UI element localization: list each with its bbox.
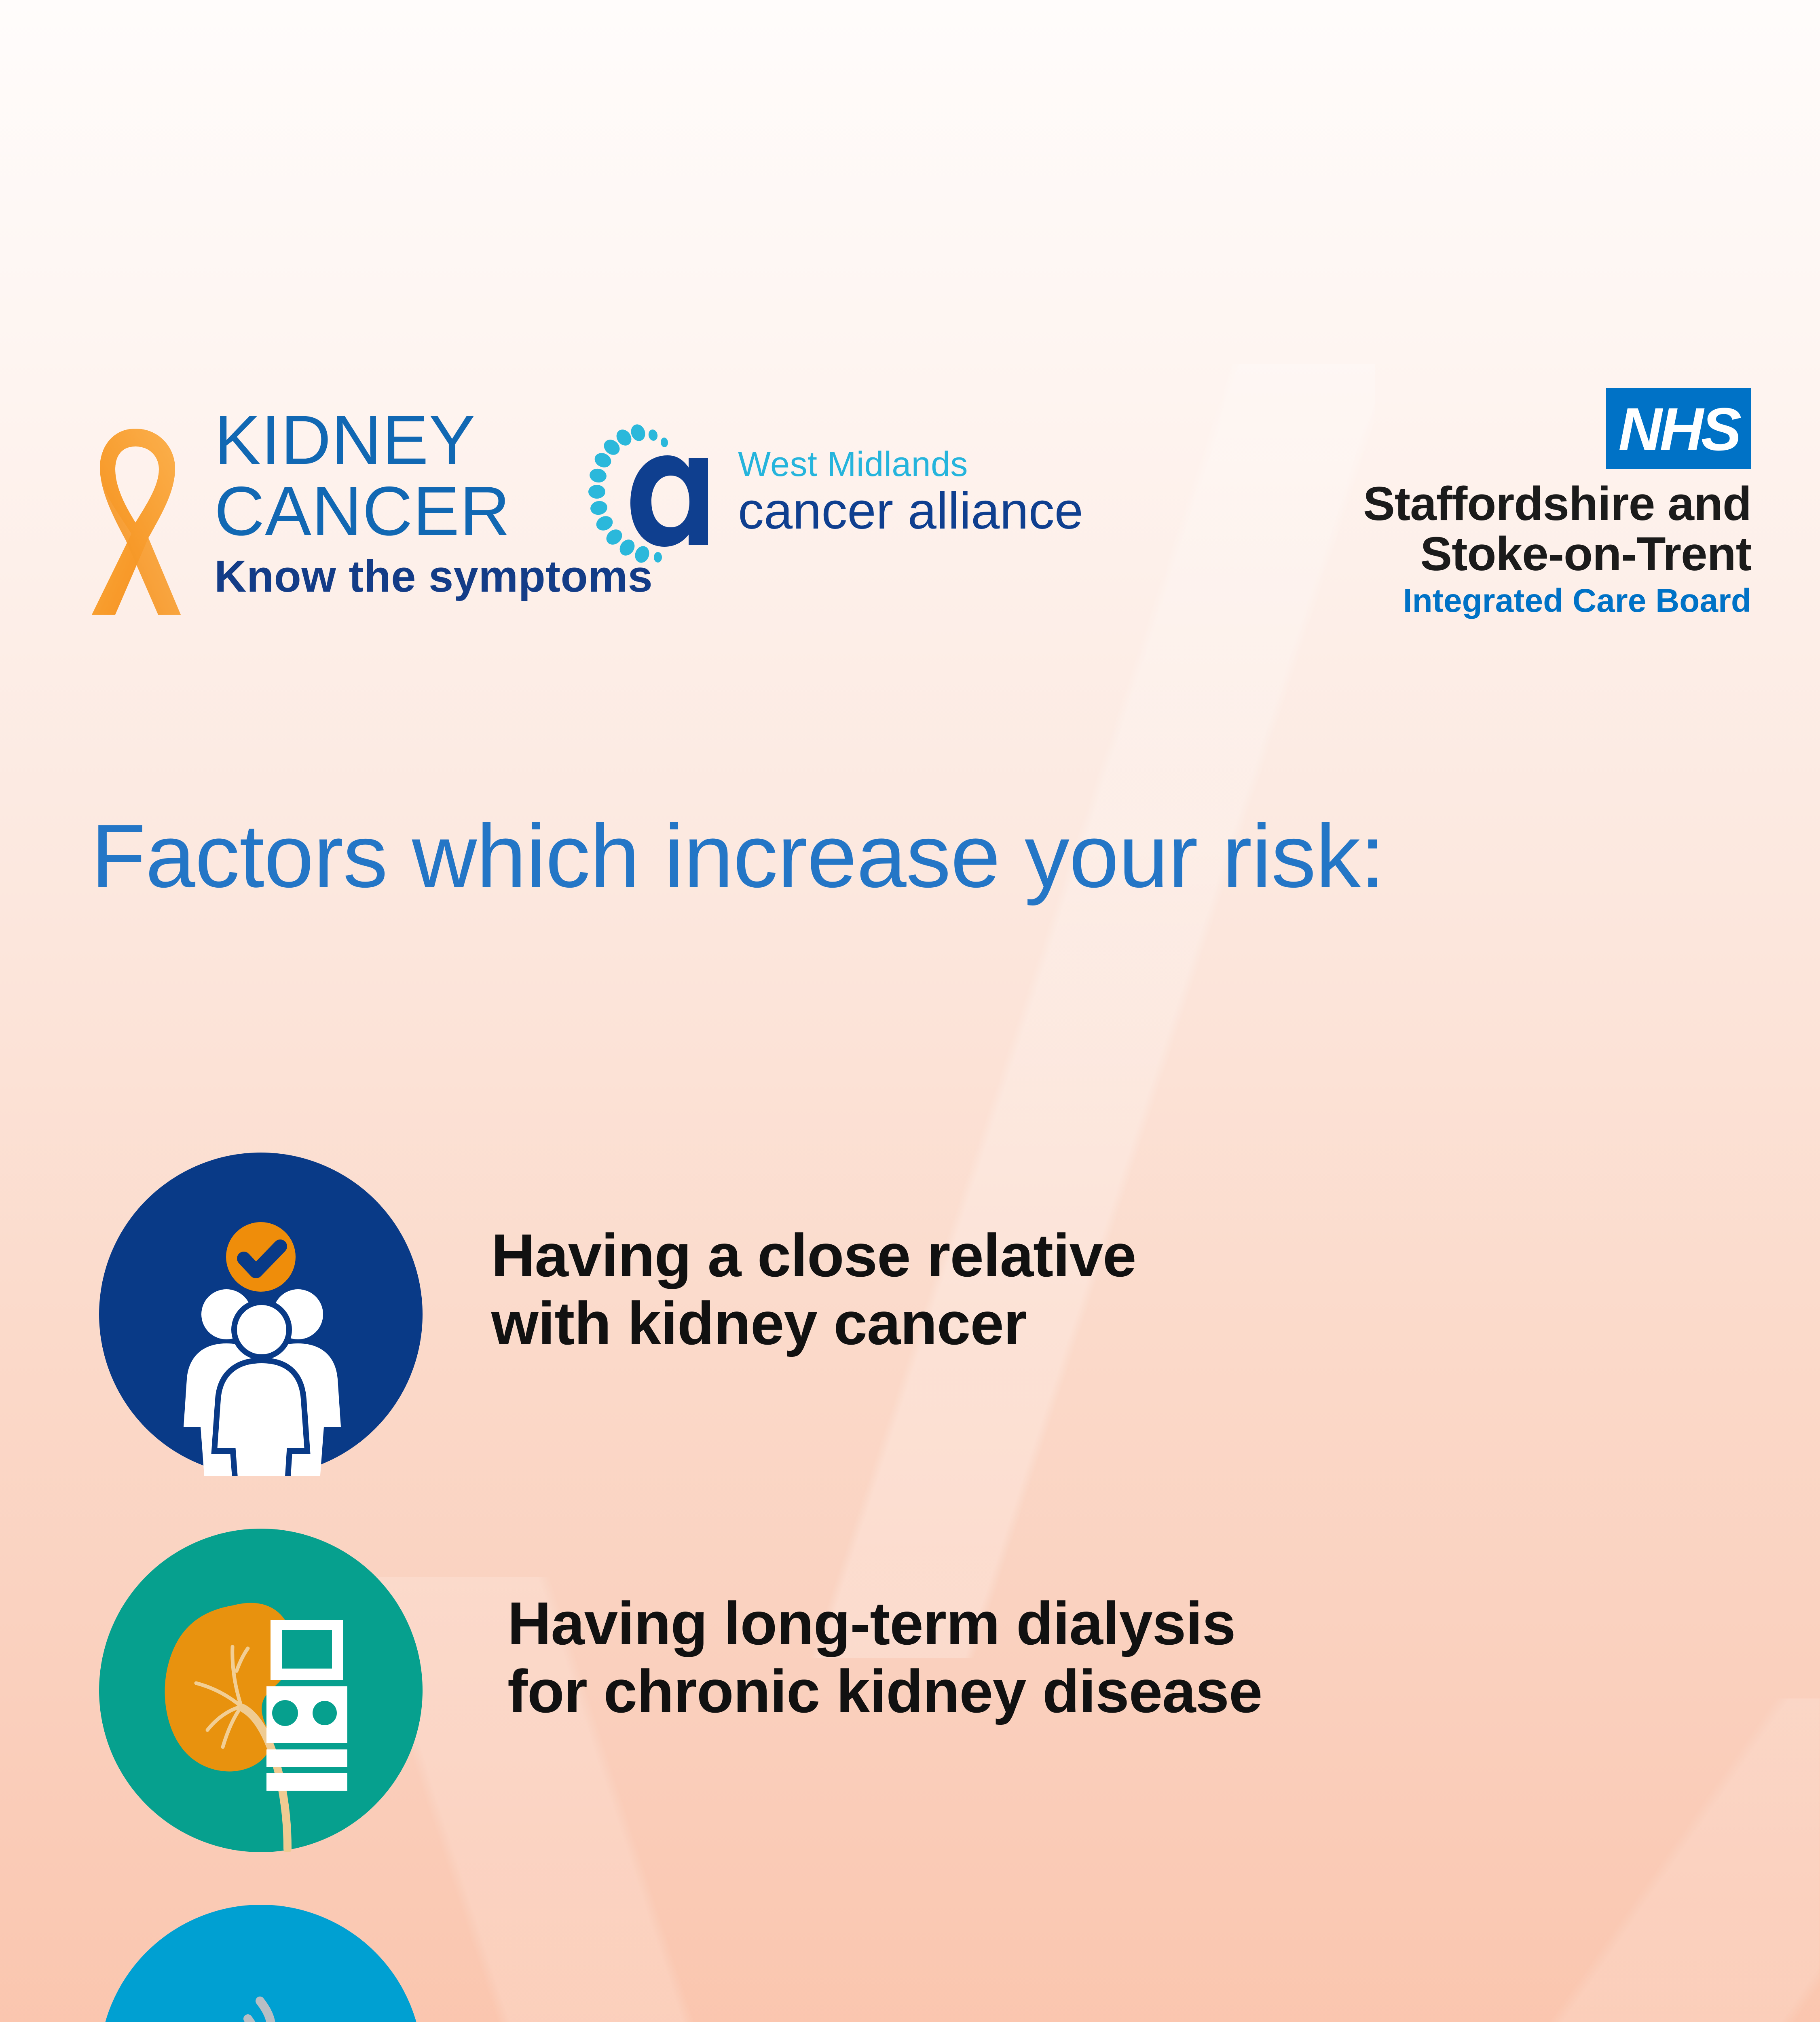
risk-icon-family-group	[99, 1153, 423, 1476]
family-group-check-icon	[99, 1153, 423, 1476]
nhs-org-line3: Integrated Care Board	[1286, 582, 1751, 620]
logo-header: KIDNEY CANCER Know the symptoms	[0, 388, 1820, 696]
nhs-org-line2: Stoke-on-Trent	[1286, 529, 1751, 579]
risk-icon-smoking	[99, 1905, 423, 2022]
awareness-ribbon-icon	[75, 404, 196, 631]
west-midlands-line1: West Midlands	[738, 446, 1083, 483]
west-midlands-cancer-alliance-logo: West Midlands cancer alliance	[588, 421, 1163, 594]
cancer-alliance-line2: cancer alliance	[738, 484, 1083, 538]
kidney-cancer-line1: KIDNEY	[214, 404, 653, 476]
cancer-alliance-a-icon	[588, 421, 730, 566]
page-title: Factors which increase your risk:	[91, 807, 1466, 905]
risk-factor-row: Smoking	[0, 1905, 1820, 2022]
kidney-cancer-line2: CANCER	[214, 476, 653, 547]
kidney-cancer-logo: KIDNEY CANCER Know the symptoms	[75, 404, 584, 631]
poster-canvas: KIDNEY CANCER Know the symptoms	[0, 0, 1820, 2022]
risk-factor-label: Having a close relative with kidney canc…	[491, 1221, 1136, 1357]
kidney-cancer-wordmark: KIDNEY CANCER Know the symptoms	[214, 404, 653, 601]
kidney-dialysis-machine-icon	[99, 1529, 423, 1852]
west-midlands-wordmark: West Midlands cancer alliance	[738, 446, 1083, 538]
nhs-logo: NHS Staffordshire and Stoke-on-Trent Int…	[1286, 388, 1751, 647]
cigarette-smoke-icon	[99, 1905, 423, 2022]
nhs-badge: NHS	[1606, 388, 1751, 469]
nhs-org-line1: Staffordshire and	[1286, 479, 1751, 529]
risk-icon-dialysis	[99, 1529, 423, 1852]
risk-factor-row: Having a close relative with kidney canc…	[0, 1153, 1820, 1476]
risk-factor-label: Having long-term dialysis for chronic ki…	[507, 1589, 1262, 1725]
risk-factor-row: Having long-term dialysis for chronic ki…	[0, 1529, 1820, 1852]
kidney-cancer-tagline: Know the symptoms	[214, 552, 653, 601]
